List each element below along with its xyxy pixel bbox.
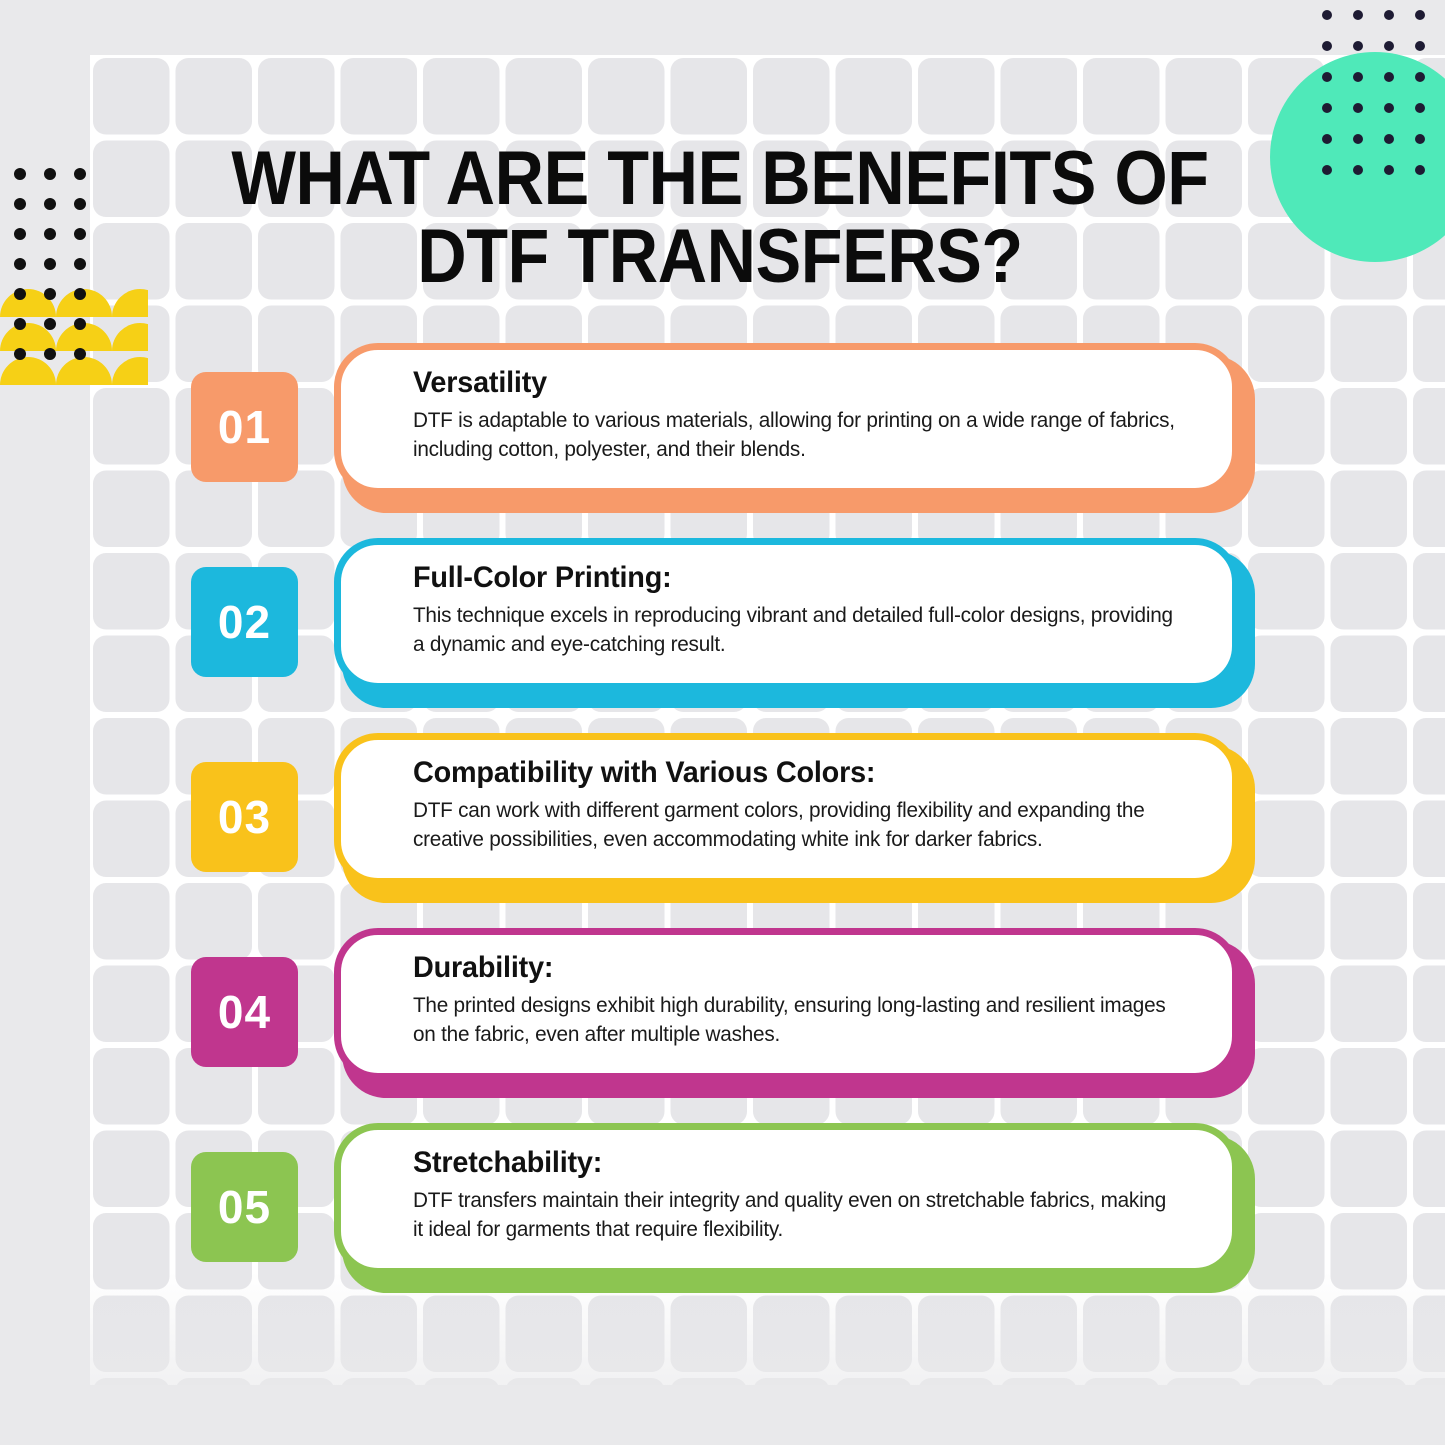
card-bubble-04: Durability: The printed designs exhibit … [334, 928, 1255, 1098]
card-description-01: DTF is adaptable to various materials, a… [413, 406, 1178, 464]
card-bubble-03: Compatibility with Various Colors: DTF c… [334, 733, 1255, 903]
card-bubble-01: Versatility DTF is adaptable to various … [334, 343, 1255, 513]
card-description-03: DTF can work with different garment colo… [413, 796, 1178, 854]
card-title-03: Compatibility with Various Colors: [413, 754, 1174, 792]
card-bubble-05: Stretchability: DTF transfers maintain t… [334, 1123, 1255, 1293]
benefit-card-03: 03 Compatibility with Various Colors: DT… [0, 733, 1445, 928]
card-description-04: The printed designs exhibit high durabil… [413, 991, 1178, 1049]
card-number-badge-02: 02 [191, 567, 298, 677]
card-number-badge-01: 01 [191, 372, 298, 482]
card-number-01: 01 [218, 400, 271, 454]
benefit-card-02: 02 Full-Color Printing: This technique e… [0, 538, 1445, 733]
card-number-03: 03 [218, 790, 271, 844]
card-number-04: 04 [218, 985, 271, 1039]
card-bubble-body-02: Full-Color Printing: This technique exce… [334, 538, 1239, 690]
card-title-04: Durability: [413, 949, 1174, 987]
card-bubble-body-05: Stretchability: DTF transfers maintain t… [334, 1123, 1239, 1275]
card-number-02: 02 [218, 595, 271, 649]
card-number-badge-04: 04 [191, 957, 298, 1067]
card-title-05: Stretchability: [413, 1144, 1174, 1182]
dot-grid-top-right-icon [1322, 10, 1445, 206]
card-title-02: Full-Color Printing: [413, 559, 1174, 597]
page-title: WHAT ARE THE BENEFITS OF DTF TRANSFERS? [203, 140, 1238, 296]
card-number-05: 05 [218, 1180, 271, 1234]
card-number-badge-03: 03 [191, 762, 298, 872]
card-description-02: This technique excels in reproducing vib… [413, 601, 1178, 659]
card-bubble-body-04: Durability: The printed designs exhibit … [334, 928, 1239, 1080]
card-number-badge-05: 05 [191, 1152, 298, 1262]
benefit-card-04: 04 Durability: The printed designs exhib… [0, 928, 1445, 1123]
card-bubble-body-01: Versatility DTF is adaptable to various … [334, 343, 1239, 495]
benefit-card-01: 01 Versatility DTF is adaptable to vario… [0, 343, 1445, 538]
card-title-01: Versatility [413, 364, 1174, 402]
card-description-05: DTF transfers maintain their integrity a… [413, 1186, 1178, 1244]
card-bubble-02: Full-Color Printing: This technique exce… [334, 538, 1255, 708]
card-bubble-body-03: Compatibility with Various Colors: DTF c… [334, 733, 1239, 885]
benefit-card-05: 05 Stretchability: DTF transfers maintai… [0, 1123, 1445, 1318]
benefits-card-list: 01 Versatility DTF is adaptable to vario… [0, 343, 1445, 1318]
